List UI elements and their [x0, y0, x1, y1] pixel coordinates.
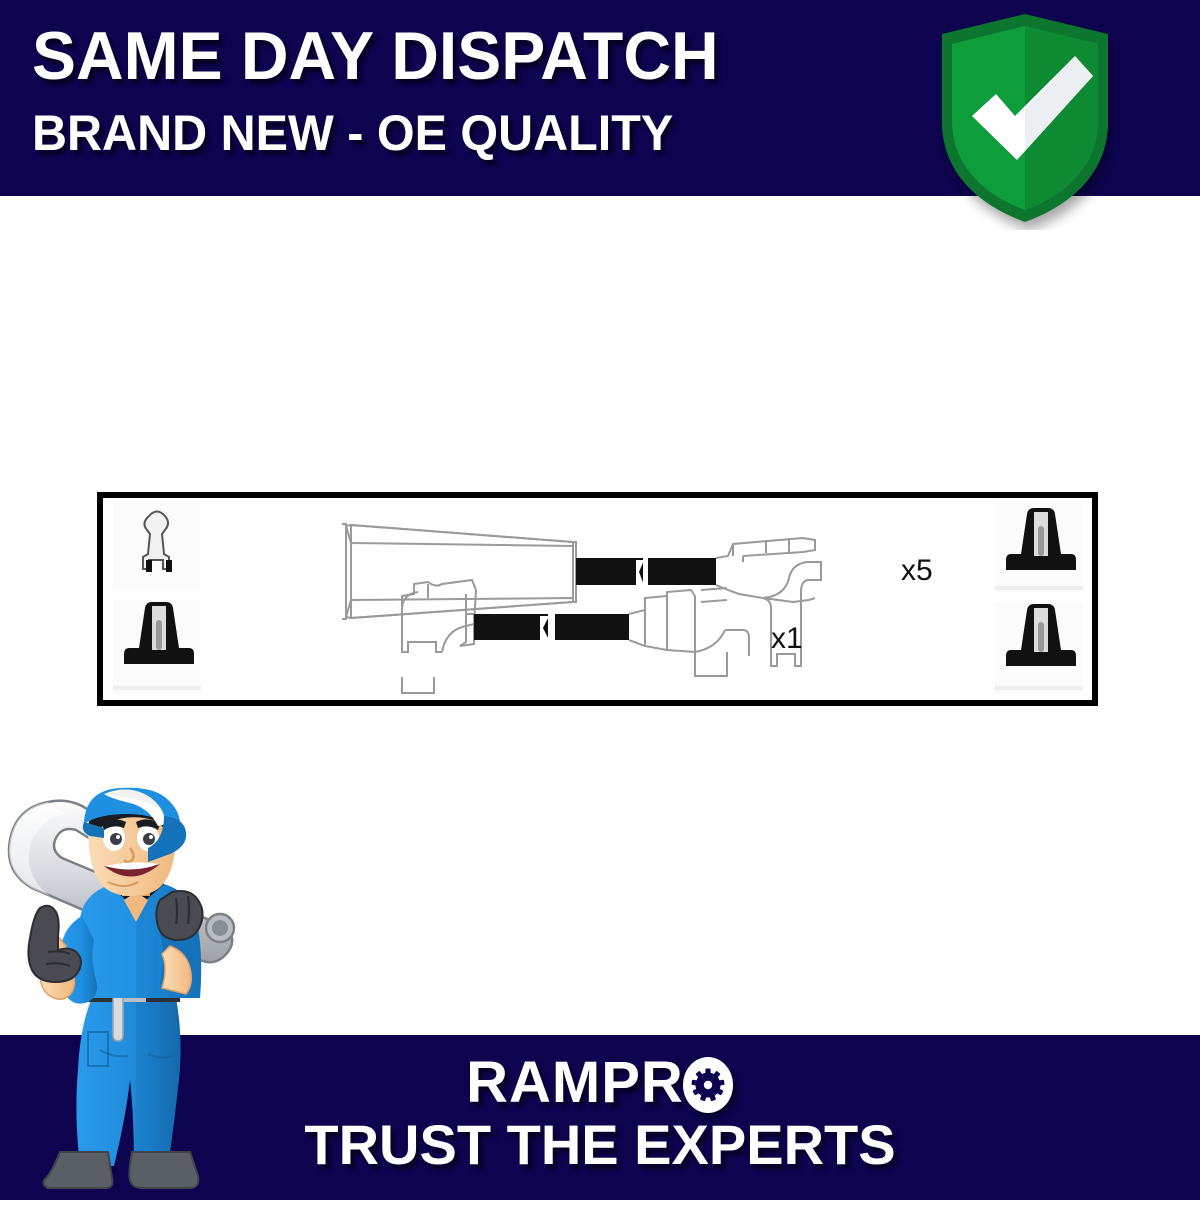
short-lead-quantity-label: x1 [771, 622, 803, 655]
top-banner-text-block: SAME DAY DISPATCH BRAND NEW - OE QUALITY [32, 14, 740, 164]
brand-name-text: RAMPR [466, 1051, 684, 1115]
quality-subheadline: BRAND NEW - OE QUALITY [32, 102, 719, 164]
long-lead-quantity-label: x5 [901, 554, 933, 587]
spark-plug-boot-icon [995, 602, 1083, 694]
gear-icon [682, 1054, 734, 1112]
mascot-legs [76, 998, 180, 1166]
brand-logo: RAMPR [466, 1051, 734, 1115]
product-diagram-box: x5 [97, 492, 1098, 706]
shield-check-icon [936, 10, 1114, 230]
mascot-boots [43, 1152, 198, 1188]
dispatch-headline: SAME DAY DISPATCH [32, 14, 719, 98]
brand-tagline-text: TRUST THE EXPERTS [304, 1113, 895, 1177]
mechanic-mascot [0, 786, 248, 1200]
spark-plug-boot-icon [113, 600, 201, 694]
coil-terminal-icon [113, 502, 201, 590]
spark-plug-boot-icon [995, 502, 1083, 592]
